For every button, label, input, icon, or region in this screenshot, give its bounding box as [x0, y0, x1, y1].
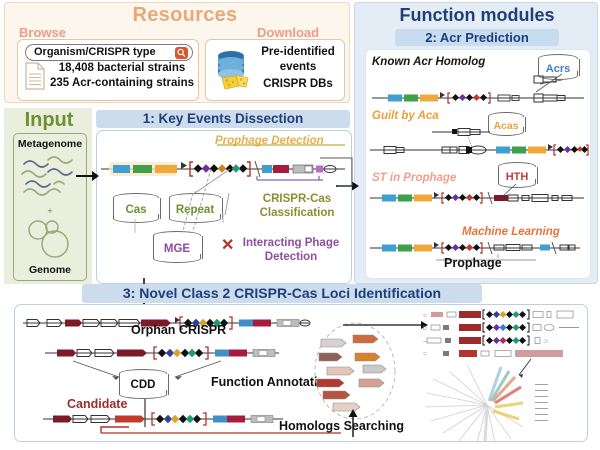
database-hth: HTH — [498, 162, 536, 188]
magnifier-glyph — [175, 47, 188, 59]
module-label-st-in-prophage: ST in Prophage — [372, 172, 456, 184]
section1-right-bracket — [318, 152, 364, 192]
browse-label: Browse — [19, 25, 66, 40]
input-card: Metagenome + G — [13, 133, 87, 281]
st-in-prophage-track — [366, 186, 590, 216]
search-input[interactable]: Organism/CRISPR type — [25, 44, 193, 61]
svg-text:▬▬▬▬: ▬▬▬▬ — [535, 412, 549, 416]
plus-sign: + — [14, 206, 86, 216]
phylogenetic-tree: ▬▬▬▬▬▬▬▬ ▬▬▬▬▬▬▬▬ ▬▬▬▬▬▬▬▬ ▬▬▬▬ — [415, 357, 585, 443]
candidate-locus-track — [41, 409, 291, 437]
crispr-cas-classification-line2: Classification — [247, 207, 347, 219]
svg-text:⊃: ⊃ — [543, 339, 548, 345]
acr-prediction-title: 2: Acr Prediction — [395, 29, 559, 46]
crispr-cas-classification-line1: CRISPR-Cas — [247, 193, 347, 205]
input-panel: Input Metagenome + — [4, 108, 92, 284]
function-modules-panel: Function modules 2: Acr Prediction Known… — [354, 2, 598, 284]
database-hth-label: HTH — [498, 171, 536, 183]
database-stack-icon — [212, 48, 256, 92]
svg-text:▬▬▬▬: ▬▬▬▬ — [535, 418, 549, 422]
figure-canvas: Resources Browse Download Organism/CRISP… — [0, 0, 600, 450]
guilt-by-aca-track — [366, 116, 590, 162]
download-card: Pre-identified events CRISPR DBs — [205, 39, 345, 101]
pool-to-results-arrow — [343, 317, 433, 333]
section3-title: 3: Novel Class 2 CRISPR-Cas Loci Identif… — [82, 284, 482, 303]
module-label-machine-learning: Machine Learning — [462, 226, 560, 238]
download-line-3: CRISPR DBs — [256, 78, 340, 90]
browse-card: Organism/CRISPR type 18,408 — [17, 39, 199, 101]
homologs-searching-label: Homologs Searching — [279, 419, 404, 433]
document-icon — [25, 62, 45, 90]
results-loci-rows: ⊂D—⊂ — [421, 307, 585, 359]
search-icon[interactable] — [175, 47, 188, 59]
section1-card: Prophage Detection — [96, 130, 352, 284]
input-to-section1-arrow — [76, 168, 100, 184]
input-title: Input — [5, 109, 93, 132]
orphan-crispr-label: Orphan CRISPR — [131, 323, 226, 337]
known-acr-track — [366, 70, 590, 112]
svg-text:▬▬▬▬: ▬▬▬▬ — [535, 394, 549, 398]
download-line-1: Pre-identified — [256, 46, 340, 58]
module-label-known-acr-homolog: Known Acr Homolog — [372, 56, 485, 68]
svg-text:▬▬▬▬: ▬▬▬▬ — [535, 388, 549, 392]
plasmid-circles-icon — [24, 218, 78, 260]
cross-icon: ✕ — [221, 235, 234, 255]
download-label: Download — [257, 25, 319, 40]
svg-text:▬▬▬▬: ▬▬▬▬ — [535, 382, 549, 386]
svg-text:▬▬▬▬: ▬▬▬▬ — [535, 400, 549, 404]
section3-card: Orphan CRISPR — [14, 304, 588, 442]
svg-text:⊂: ⊂ — [423, 313, 427, 319]
strain-count-line: 18,408 bacterial strains — [48, 62, 196, 74]
section1-title: 1: Key Events Dissection — [96, 110, 350, 128]
function-modules-title: Function modules — [355, 5, 599, 26]
search-input-value: Organism/CRISPR type — [34, 46, 156, 58]
resources-title: Resources — [95, 4, 275, 27]
prophage-caption: Prophage — [444, 256, 502, 270]
svg-text:▬▬▬▬: ▬▬▬▬ — [535, 406, 549, 410]
genome-label: Genome — [14, 264, 86, 276]
metagenome-label: Metagenome — [14, 138, 86, 150]
interacting-phage-detection-line2: Detection — [235, 251, 347, 263]
interacting-phage-detection-line1: Interacting Phage — [235, 237, 347, 249]
svg-text:D: D — [423, 326, 427, 332]
resources-panel: Resources Browse Download Organism/CRISP… — [4, 2, 350, 103]
wavy-reads-icon — [18, 154, 82, 198]
acr-strain-count-line: 235 Acr-containing strains — [48, 77, 196, 89]
acr-prediction-card: Known Acr Homolog Acrs — [365, 49, 591, 279]
download-line-2: events — [256, 61, 340, 73]
